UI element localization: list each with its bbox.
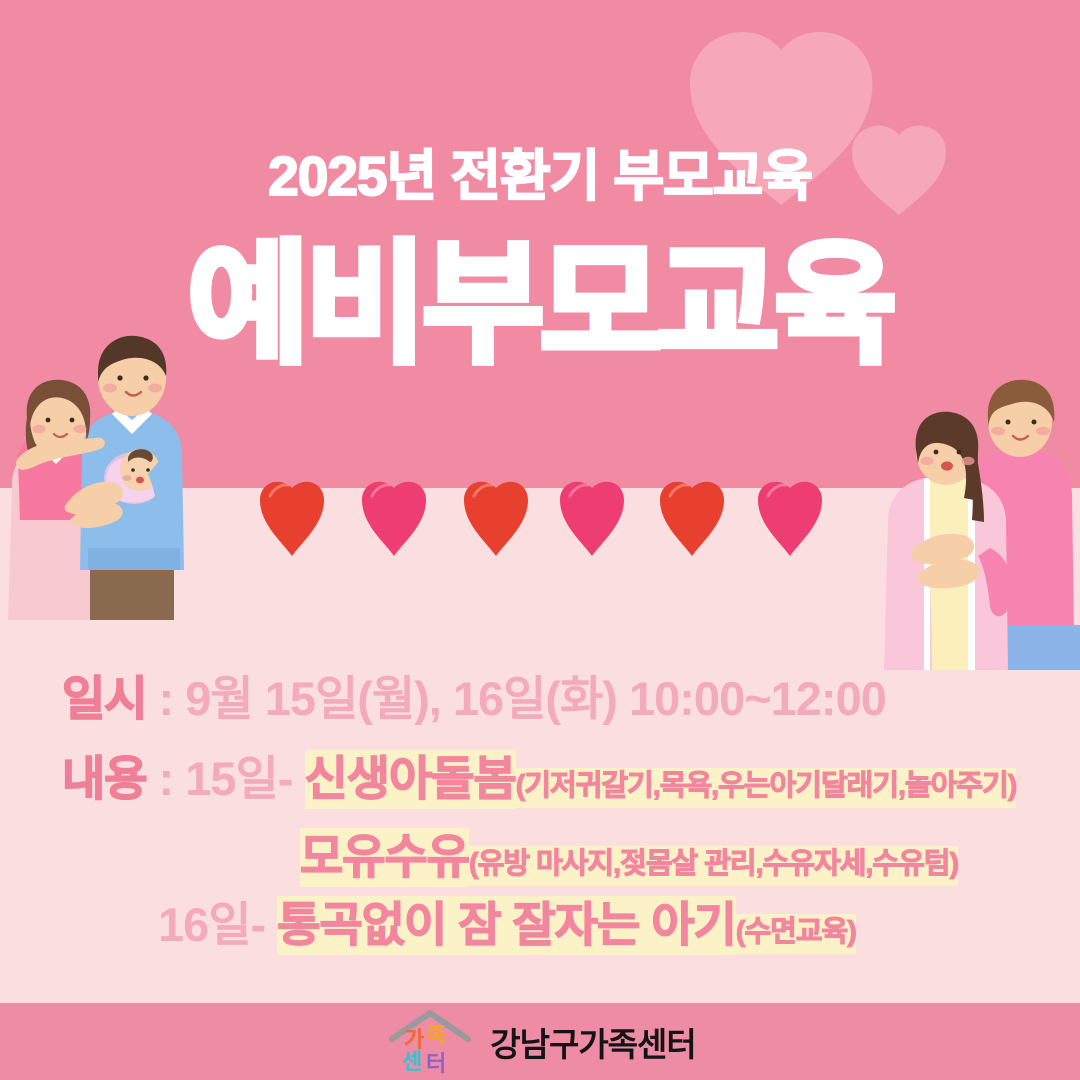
day2-topic-detail: (수면교육): [736, 914, 856, 954]
organization-name: 강남구가족센터: [490, 1018, 696, 1066]
svg-text:터: 터: [426, 1051, 446, 1075]
svg-text:센: 센: [402, 1049, 422, 1074]
poster-canvas: 2025년 전환기 부모교육 예비부모교육: [0, 0, 1080, 1080]
day1-topic: 신생아돌봄: [305, 750, 516, 809]
decorative-hearts-background: [640, 0, 1080, 260]
date-line: 일시 : 9월 15일(월), 16일(화) 10:00~12:00: [62, 660, 886, 729]
heart-icon: [560, 482, 624, 556]
heart-icon: [660, 482, 724, 556]
footer: 가 족 센 터 강남구가족센터: [0, 1003, 1080, 1080]
content-line-day2: 16일- 통곡없이 잠 잘자는 아기(수면교육): [158, 886, 856, 955]
day1-prefix: 15일-: [185, 752, 304, 805]
family-center-logo-icon: 가 족 센 터: [384, 1009, 476, 1075]
day1-topic2: 모유수유: [300, 828, 469, 887]
svg-text:족: 족: [426, 1023, 446, 1048]
poster-subtitle: 2025년 전환기 부모교육: [0, 131, 1080, 211]
heart-divider-row: [252, 472, 852, 562]
family-with-newborn-illustration: [0, 330, 200, 620]
heart-icon: [758, 482, 822, 556]
content-line-day1: 내용 : 15일- 신생아돌봄(기저귀갈기,목욕,우는아기달래기,놀아주기): [62, 740, 1016, 809]
day1-topic-detail: (기저귀갈기,목욕,우는아기달래기,놀아주기): [516, 768, 1017, 808]
day1-topic2-detail: (유방 마사지,젖몸살 관리,수유자세,수유텀): [469, 846, 958, 886]
day2-topic: 통곡없이 잠 잘자는 아기: [277, 896, 736, 955]
content-line-day1-topic2: 모유수유(유방 마사지,젖몸살 관리,수유자세,수유텀): [300, 818, 958, 887]
heart-icon: [260, 482, 324, 556]
date-value: 9월 15일(월), 16일(화) 10:00~12:00: [185, 672, 886, 725]
date-label: 일시: [62, 672, 146, 725]
heart-icon: [464, 482, 528, 556]
details-block: 일시 : 9월 15일(월), 16일(화) 10:00~12:00 내용 : …: [0, 620, 1080, 950]
day2-prefix: 16일-: [158, 898, 277, 951]
content-separator: :: [146, 752, 185, 805]
content-label: 내용: [62, 752, 146, 805]
date-separator: :: [146, 672, 185, 725]
heart-icon: [362, 482, 426, 556]
